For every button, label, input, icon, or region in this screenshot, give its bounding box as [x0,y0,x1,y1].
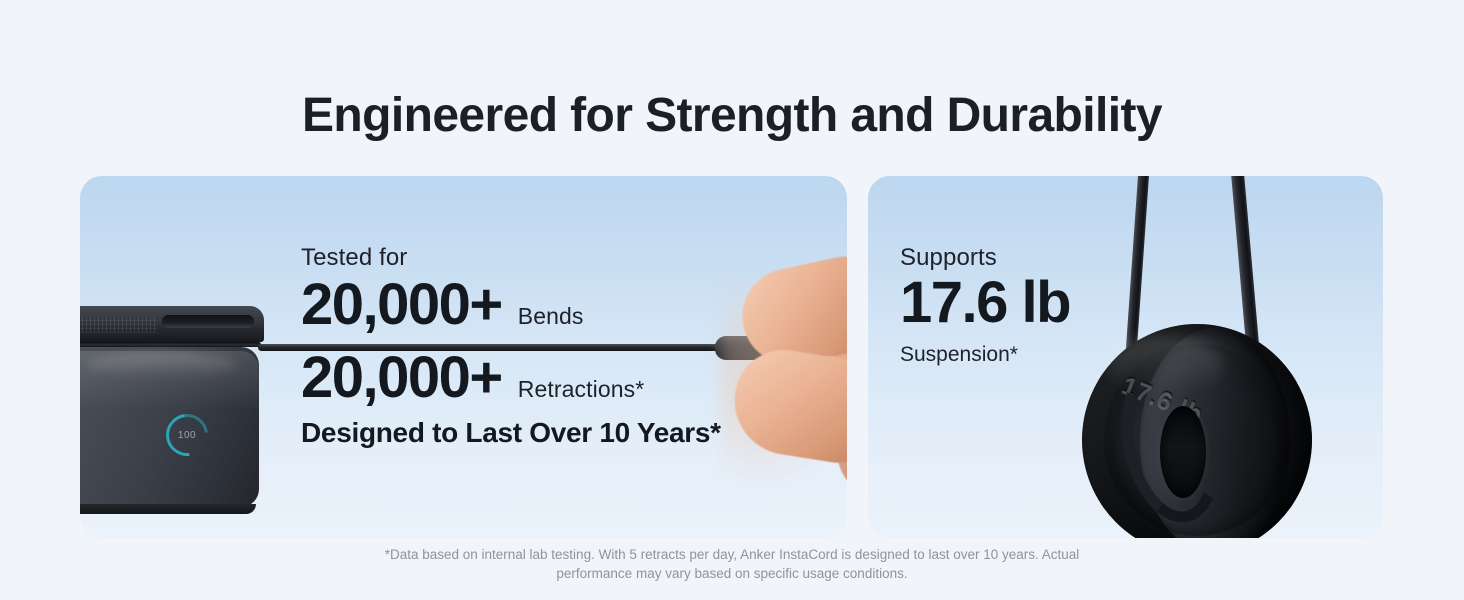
suspension-suffix-label: Suspension* [900,343,1070,367]
right-card-stats: Supports 17.6 lb Suspension* [900,246,1070,367]
suspension-weight-card: 17.6 lb Supports 17.6 lb Suspension* [868,176,1383,538]
retractions-value: 20,000+ [301,347,502,410]
page-title: Engineered for Strength and Durability [0,88,1464,143]
battery-indicator-icon: 100 [166,414,208,456]
retractions-stat-row: 20,000+ Retractions* [301,347,721,410]
bends-unit-label: Bends [518,303,584,330]
suspension-weight-value: 17.6 lb [900,272,1070,335]
battery-percent-label: 100 [166,414,208,456]
power-bank-cable-slot [162,315,254,328]
durability-bends-card: 100 Tested for 20,000+ Bends 20,000+ Ret… [80,176,847,538]
bends-prefix-label: Tested for [301,246,721,270]
bends-value: 20,000+ [301,274,502,337]
bends-stat-row: 20,000+ Bends [301,274,721,337]
durability-tagline: Designed to Last Over 10 Years* [301,417,721,449]
anker-power-bank-image: 100 [80,306,264,538]
left-card-stats: Tested for 20,000+ Bends 20,000+ Retract… [301,246,721,449]
retractions-unit-label: Retractions* [518,376,644,403]
power-bank-top-cap [80,306,264,342]
power-bank-base [80,504,256,514]
hand-image [720,246,847,526]
footnote-disclaimer: *Data based on internal lab testing. Wit… [352,545,1112,583]
power-bank-texture [80,317,158,333]
supports-prefix-label: Supports [900,246,1070,270]
power-bank-gloss [86,352,236,378]
